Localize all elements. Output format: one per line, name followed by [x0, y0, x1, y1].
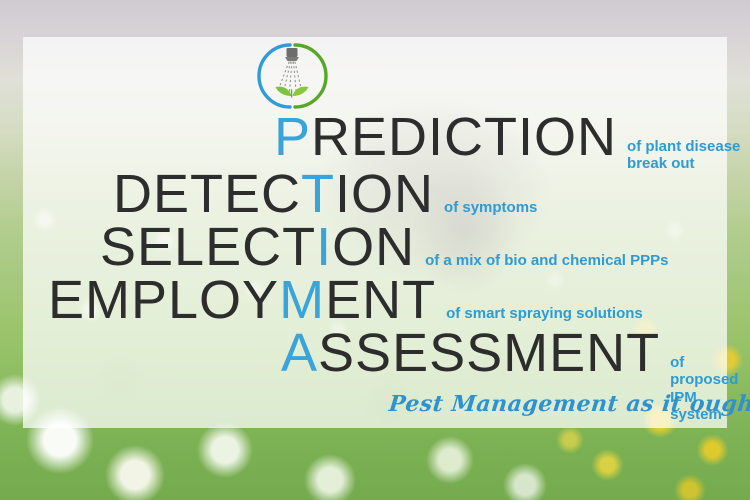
- headline-word-prediction: PREDICTION: [274, 110, 617, 164]
- headline-highlight-prediction: P: [274, 107, 311, 167]
- headline-row-detection: DETECTION of symptoms: [113, 167, 537, 221]
- logo-blue-arc: [259, 45, 290, 107]
- headline-prefix-detection: DETEC: [113, 164, 301, 224]
- logo-green-arc: [295, 45, 326, 107]
- headline-suffix-assessment: SSESSMENT: [318, 323, 660, 383]
- headline-highlight-employment: M: [279, 270, 325, 330]
- headline-subtext-employment: of smart spraying solutions: [446, 305, 643, 322]
- headline-word-selection: SELECTION: [100, 220, 415, 274]
- headline-row-selection: SELECTION of a mix of bio and chemical P…: [100, 220, 669, 274]
- logo-nozzle-icon: [287, 48, 298, 57]
- logo-spray-droplets: [279, 62, 301, 91]
- headline-highlight-assessment: A: [281, 323, 318, 383]
- tagline: Pest Management as it ought to be…: [388, 391, 750, 417]
- headline-subtext-selection: of a mix of bio and chemical PPPs: [425, 252, 668, 269]
- headline-word-detection: DETECTION: [113, 167, 434, 221]
- poster-canvas: PREDICTION of plant disease break out DE…: [0, 0, 750, 500]
- headline-highlight-selection: I: [316, 217, 332, 277]
- headline-subtext-prediction: of plant disease break out: [627, 138, 740, 173]
- logo-leaf-left: [276, 87, 292, 96]
- headline-suffix-prediction: REDICTION: [311, 107, 617, 167]
- headline-prefix-employment: EMPLOY: [48, 270, 279, 330]
- headline-highlight-detection: T: [301, 164, 335, 224]
- headline-suffix-employment: ENT: [325, 270, 436, 330]
- headline-suffix-detection: ION: [335, 164, 434, 224]
- headline-word-employment: EMPLOYMENT: [48, 273, 436, 327]
- headline-suffix-selection: ON: [332, 217, 415, 277]
- logo-nozzle-skirt: [285, 57, 299, 61]
- headline-prefix-selection: SELECT: [100, 217, 316, 277]
- headline-stack: PREDICTION of plant disease break out DE…: [0, 110, 750, 400]
- headline-subtext-detection: of symptoms: [444, 199, 537, 216]
- headline-word-assessment: ASSESSMENT: [281, 326, 660, 380]
- spray-circle-logo: [256, 40, 328, 112]
- headline-row-employment: EMPLOYMENT of smart spraying solutions: [48, 273, 643, 327]
- logo-leaf-right: [293, 87, 309, 96]
